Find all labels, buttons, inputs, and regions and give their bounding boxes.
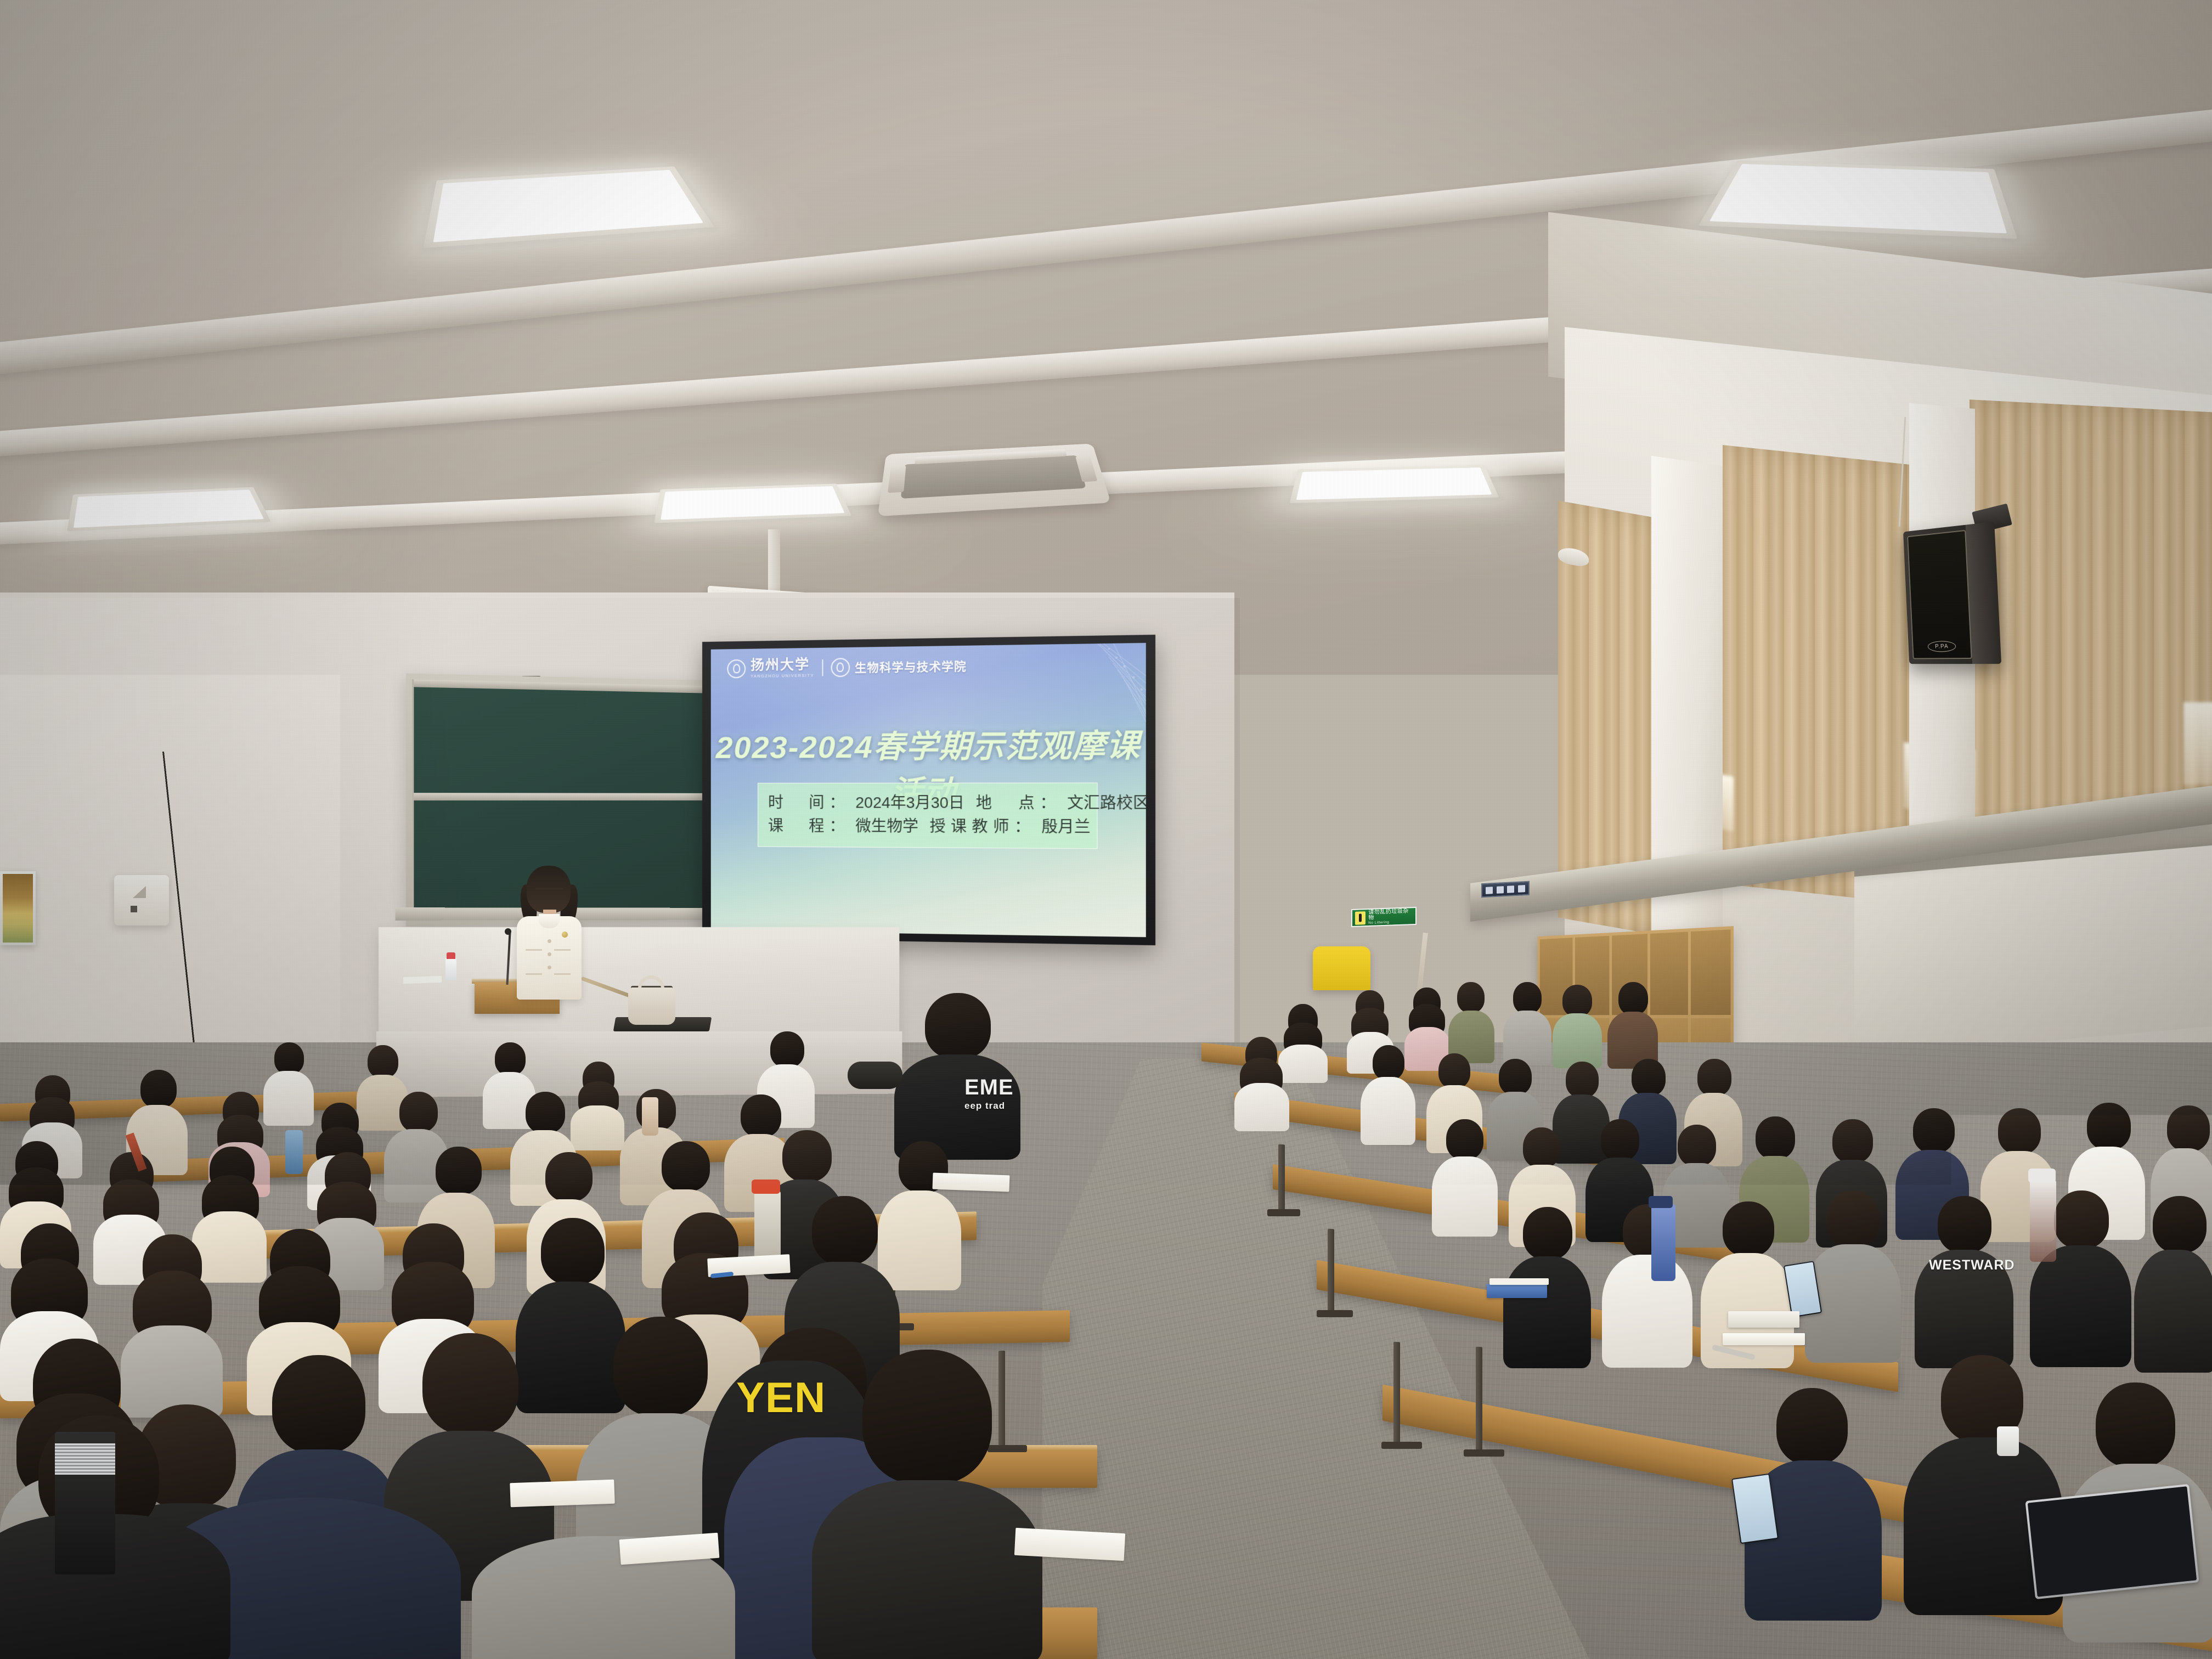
water-bottle bbox=[2030, 1180, 2056, 1262]
desk-leg bbox=[1328, 1229, 1334, 1312]
student bbox=[1432, 1119, 1498, 1234]
no-littering-sign: 请勿乱扔垃圾杂物 No Littering bbox=[1351, 907, 1417, 927]
projection-screen: 扬州大学 YANGZHOU UNIVERSITY 生物科学与技术学院 2023-… bbox=[702, 635, 1155, 945]
ceiling-light-frame-5 bbox=[1699, 160, 2017, 239]
logo-divider bbox=[822, 659, 823, 676]
no-littering-text-en: No Littering bbox=[1368, 920, 1413, 926]
water-bottle bbox=[642, 1097, 658, 1136]
student bbox=[1607, 982, 1658, 1070]
small-bottle bbox=[1997, 1426, 2019, 1456]
slide-info-row-time: 时 间： 2024年3月30日 地 点： 文汇路校区020230221 bbox=[768, 791, 1086, 815]
student bbox=[1448, 982, 1494, 1064]
ceiling-light-4 bbox=[1296, 467, 1492, 500]
student bbox=[812, 1350, 1042, 1659]
slide-logo: 扬州大学 YANGZHOU UNIVERSITY 生物科学与技术学院 bbox=[727, 656, 966, 679]
paper-on-dais bbox=[403, 976, 442, 984]
student bbox=[0, 1476, 230, 1659]
student bbox=[263, 1042, 314, 1125]
hoodie-text-eme: EME bbox=[964, 1075, 1014, 1100]
desk-foot bbox=[1464, 1449, 1504, 1457]
ceiling-light-5 bbox=[1709, 164, 2007, 234]
loose-paper bbox=[1723, 1333, 1805, 1345]
desk-foot bbox=[1267, 1209, 1300, 1216]
notebook bbox=[1728, 1311, 1799, 1328]
desk-foot bbox=[1381, 1442, 1422, 1449]
water-bottle bbox=[285, 1130, 303, 1174]
slide-time-label: 时 间： bbox=[768, 791, 850, 815]
student bbox=[1503, 982, 1551, 1067]
hoodie-text-westward: WESTWARD bbox=[1929, 1257, 2015, 1273]
loose-paper bbox=[510, 1480, 614, 1508]
student bbox=[1553, 985, 1602, 1070]
student-with-phone bbox=[1745, 1388, 1882, 1618]
thermos-flask bbox=[55, 1432, 115, 1575]
wall-mounted-device-icon bbox=[114, 875, 169, 926]
slide-university-name-cn: 扬州大学 bbox=[751, 658, 814, 673]
framed-landscape-picture bbox=[0, 871, 36, 945]
ceiling-light-frame-4 bbox=[1290, 465, 1499, 503]
lapel-brooch bbox=[562, 932, 568, 938]
student bbox=[1602, 1204, 1692, 1366]
hoodie-text-eme-sub: eep trad bbox=[964, 1101, 1005, 1111]
handbag bbox=[628, 988, 675, 1025]
student-eme-hoodie: EME eep trad bbox=[894, 993, 1020, 1158]
college-seal-icon bbox=[831, 658, 849, 677]
slide-college-name: 生物科学与技术学院 bbox=[855, 657, 967, 675]
tablet-device[interactable] bbox=[2025, 1484, 2199, 1599]
lecture-hall-photo: 扬州大学 YANGZHOU UNIVERSITY 生物科学与技术学院 2023-… bbox=[0, 0, 2212, 1659]
ceiling-light-3 bbox=[661, 486, 844, 520]
water-bottle bbox=[1651, 1204, 1675, 1281]
bottle-cap bbox=[2028, 1169, 2056, 1183]
yellow-chair[interactable] bbox=[1313, 946, 1370, 990]
dais-front-panel bbox=[376, 1031, 902, 1097]
student: WESTWARD bbox=[1915, 1196, 2013, 1366]
pencil-case bbox=[848, 1062, 902, 1089]
notebook-pages bbox=[1489, 1278, 1549, 1285]
water-bottle bbox=[754, 1190, 781, 1262]
glasses-icon bbox=[535, 888, 563, 894]
ceiling-light-2 bbox=[74, 490, 264, 528]
desk-foot bbox=[1317, 1310, 1353, 1317]
slide-place-label: 地 点： bbox=[976, 791, 1062, 815]
no-littering-text-cn: 请勿乱扔垃圾杂物 bbox=[1368, 909, 1413, 922]
water-bottle bbox=[445, 957, 456, 980]
loose-paper bbox=[933, 1173, 1010, 1192]
slide-surface: 扬州大学 YANGZHOU UNIVERSITY 生物科学与技术学院 2023-… bbox=[711, 643, 1146, 937]
bottle-cap bbox=[752, 1180, 780, 1194]
exit-sign-plate bbox=[1481, 881, 1530, 898]
lecturer bbox=[510, 866, 587, 1008]
littering-pictogram-icon bbox=[1355, 911, 1365, 925]
bottle-cap bbox=[447, 952, 455, 959]
student bbox=[1234, 1037, 1289, 1130]
slide-time-value: 2024年3月30日 bbox=[855, 791, 964, 815]
yangzhou-university-seal-icon bbox=[727, 659, 746, 679]
slide-university-name-en: YANGZHOU UNIVERSITY bbox=[751, 673, 814, 678]
desk-leg bbox=[1476, 1347, 1482, 1452]
student-with-phone bbox=[1805, 1190, 1901, 1361]
student bbox=[571, 1062, 624, 1149]
student bbox=[2134, 1196, 2212, 1372]
window-light bbox=[2183, 702, 2212, 785]
wall-speaker-icon: P.PA bbox=[1903, 522, 2001, 664]
desk-leg bbox=[1393, 1342, 1400, 1444]
loose-paper bbox=[1014, 1528, 1125, 1561]
student bbox=[1361, 1045, 1415, 1144]
notebook bbox=[1487, 1284, 1547, 1298]
desk-leg bbox=[1278, 1144, 1285, 1211]
slide-place-value: 文汇路校区020230221 bbox=[1067, 791, 1146, 815]
bottle-cap bbox=[1649, 1196, 1673, 1208]
window-sill-wall bbox=[1854, 844, 2212, 1058]
